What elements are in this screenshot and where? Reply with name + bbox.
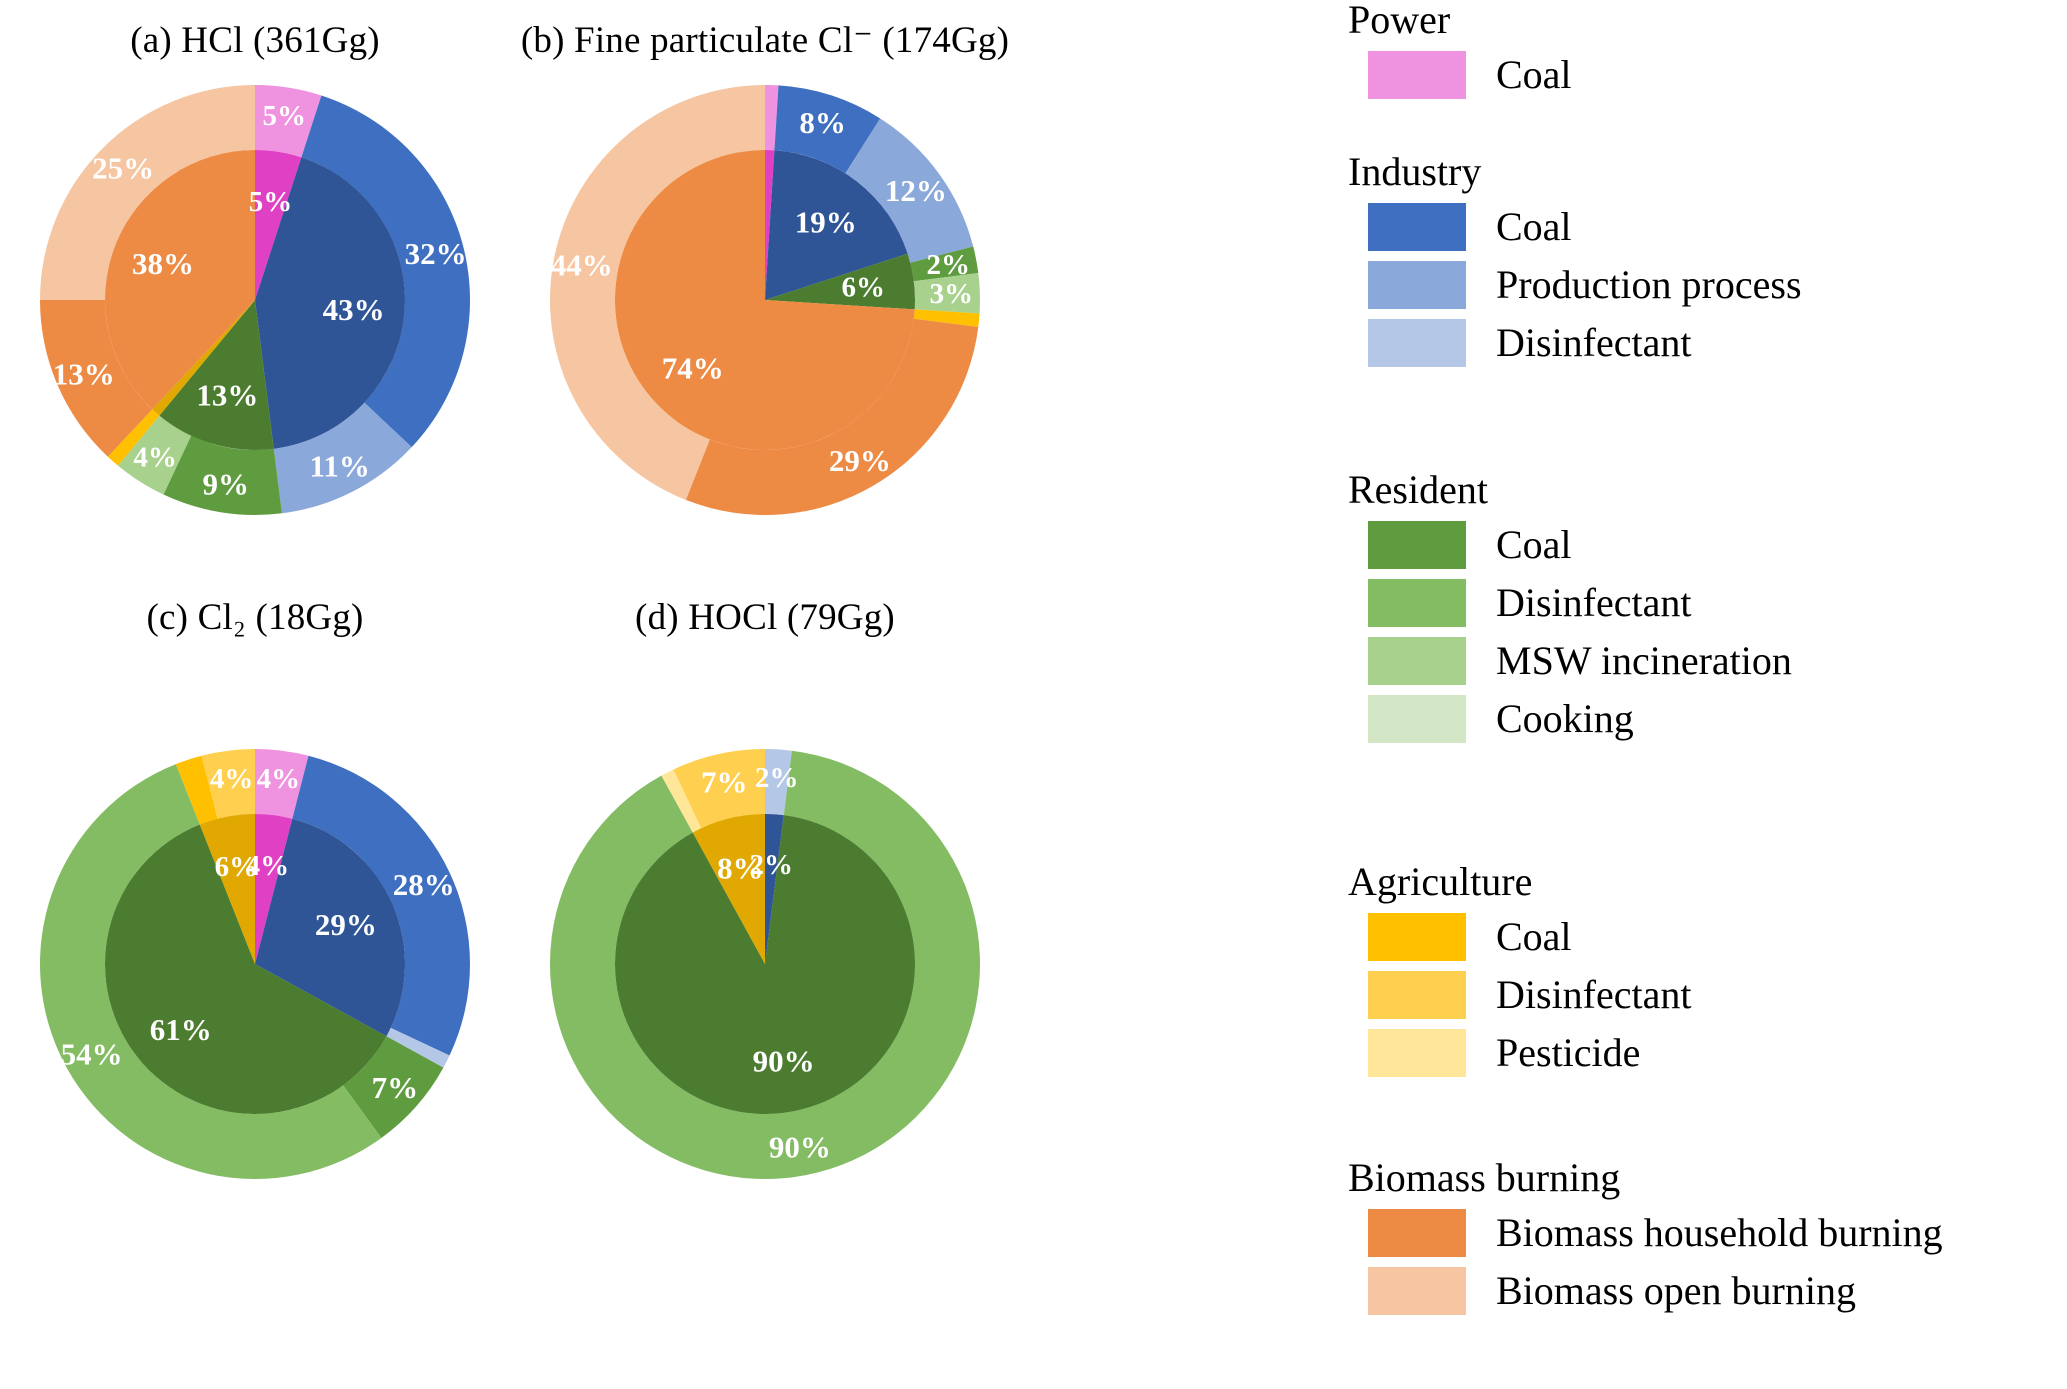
donut-chart-c: 4%28%7%54%4%4%29%61%6% <box>35 744 475 1184</box>
legend-heading: Biomass burning <box>1348 1158 2067 1198</box>
legend-item[interactable]: Coal <box>1348 46 2067 104</box>
legend-item-label: Biomass household burning <box>1496 1213 1943 1253</box>
pie-slice-value-label: 74% <box>662 350 724 385</box>
legend-item[interactable]: Pesticide <box>1348 1024 2067 1082</box>
chart-grid: (a) HCl (361Gg) 5%32%11%9%4%13%25%5%43%1… <box>0 0 1020 1389</box>
donut-a: 5%32%11%9%4%13%25%5%43%13%38% <box>35 80 475 520</box>
panel-cl2: (c) Cl₂ (18Gg) 4%28%7%54%4%4%29%61%6% <box>0 694 510 1388</box>
legend-item[interactable]: Disinfectant <box>1348 314 2067 372</box>
legend-item-label: Disinfectant <box>1496 583 1692 623</box>
pie-slice-value-label: 12% <box>885 173 947 208</box>
pie-slice-value-label: 25% <box>92 151 154 186</box>
pie-slice-value-label: 44% <box>551 248 613 283</box>
legend-swatch-icon <box>1368 51 1466 99</box>
legend-item-label: MSW incineration <box>1496 641 1792 681</box>
pie-slice-value-label: 9% <box>203 467 250 502</box>
legend-swatch-icon <box>1368 1267 1466 1315</box>
pie-slice-value-label: 2% <box>926 249 970 281</box>
legend-item-label: Coal <box>1496 917 1572 957</box>
pie-slice-value-label: 13% <box>53 357 115 392</box>
pie-slice-value-label: 3% <box>930 278 974 310</box>
pie-slice-value-label: 28% <box>393 867 455 902</box>
legend-swatch-icon <box>1368 1209 1466 1257</box>
legend-swatch-icon <box>1368 913 1466 961</box>
legend-item-label: Pesticide <box>1496 1033 1640 1073</box>
pie-slice-value-label: 4% <box>133 442 177 474</box>
panel-hocl: (d) HOCl (79Gg) 2%90%7%2%90%8% <box>510 694 1020 1388</box>
legend-item[interactable]: Disinfectant <box>1348 966 2067 1024</box>
legend-heading: Power <box>1348 0 2067 40</box>
legend-group-power: PowerCoal <box>1348 0 2067 104</box>
legend-item[interactable]: Production process <box>1348 256 2067 314</box>
legend-heading: Industry <box>1348 152 2067 192</box>
pie-slice-value-label: 7% <box>701 765 748 800</box>
pie-slice-value-label: 32% <box>405 236 467 271</box>
pie-slice-value-label: 90% <box>769 1130 831 1165</box>
legend-item[interactable]: Biomass household burning <box>1348 1204 2067 1262</box>
legend-item-label: Coal <box>1496 207 1572 247</box>
legend-item[interactable]: Disinfectant <box>1348 574 2067 632</box>
legend-item-label: Coal <box>1496 55 1572 95</box>
panel-title-b: (b) Fine particulate Cl⁻ (174Gg) <box>510 22 1020 61</box>
panel-title-a: (a) HCl (361Gg) <box>0 22 510 61</box>
legend-item-label: Cooking <box>1496 699 1634 739</box>
legend-swatch-icon <box>1368 971 1466 1019</box>
legend-swatch-icon <box>1368 203 1466 251</box>
legend-swatch-icon <box>1368 1029 1466 1077</box>
pie-slice-value-label: 54% <box>61 1036 123 1071</box>
legend-item[interactable]: Biomass open burning <box>1348 1262 2067 1320</box>
legend-item[interactable]: Coal <box>1348 908 2067 966</box>
panel-hcl: (a) HCl (361Gg) 5%32%11%9%4%13%25%5%43%1… <box>0 0 510 694</box>
legend-item[interactable]: Coal <box>1348 516 2067 574</box>
pie-slice-value-label: 29% <box>315 907 377 942</box>
pie-slice-value-label: 4% <box>257 763 301 795</box>
pie-slice-value-label: 61% <box>150 1012 212 1047</box>
donut-d: 2%90%7%2%90%8% <box>545 744 985 1184</box>
legend-swatch-icon <box>1368 695 1466 743</box>
panel-title-d: (d) HOCl (79Gg) <box>510 599 1020 638</box>
donut-c: 4%28%7%54%4%4%29%61%6% <box>35 744 475 1184</box>
legend-swatch-icon <box>1368 319 1466 367</box>
pie-slice-value-label: 6% <box>841 272 885 304</box>
pie-slice-value-label: 7% <box>372 1070 419 1105</box>
legend-group-agriculture: AgricultureCoalDisinfectantPesticide <box>1348 862 2067 1082</box>
pie-slice-value-label: 2% <box>755 762 799 794</box>
legend-heading: Agriculture <box>1348 862 2067 902</box>
pie-slice-value-label: 8% <box>717 851 764 886</box>
pie-slice-value-label: 38% <box>132 246 194 281</box>
pie-slice-value-label: 5% <box>262 100 306 132</box>
legend-item[interactable]: Coal <box>1348 198 2067 256</box>
legend-item-label: Disinfectant <box>1496 323 1692 363</box>
legend-swatch-icon <box>1368 261 1466 309</box>
legend-item-label: Biomass open burning <box>1496 1271 1856 1311</box>
pie-slice-value-label: 13% <box>196 378 258 413</box>
pie-slice-value-label: 4% <box>210 763 254 795</box>
figure-chlorine-emission-pies: (a) HCl (361Gg) 5%32%11%9%4%13%25%5%43%1… <box>0 0 2067 1389</box>
legend-heading: Resident <box>1348 470 2067 510</box>
legend: PowerCoalIndustryCoalProduction processD… <box>1348 0 2067 1389</box>
legend-item[interactable]: Cooking <box>1348 690 2067 748</box>
pie-slice-value-label: 29% <box>829 443 891 478</box>
legend-item-label: Coal <box>1496 525 1572 565</box>
legend-item-label: Production process <box>1496 265 1802 305</box>
donut-b: 8%12%2%3%29%44%19%6%74% <box>545 80 985 520</box>
pie-slice-value-label: 5% <box>249 186 293 218</box>
donut-chart-d: 2%90%7%2%90%8% <box>545 744 985 1184</box>
panel-fine-particulate-cl: (b) Fine particulate Cl⁻ (174Gg) 8%12%2%… <box>510 0 1020 694</box>
pie-slice-value-label: 11% <box>310 449 370 484</box>
pie-slice-value-label: 90% <box>753 1044 815 1079</box>
legend-swatch-icon <box>1368 637 1466 685</box>
panel-title-c: (c) Cl₂ (18Gg) <box>0 599 510 638</box>
pie-slice-value-label: 19% <box>795 204 857 239</box>
legend-item-label: Disinfectant <box>1496 975 1692 1015</box>
pie-slice-value-label: 6% <box>215 851 259 883</box>
legend-group-resident: ResidentCoalDisinfectantMSW incineration… <box>1348 470 2067 748</box>
pie-slice-value-label: 43% <box>323 292 385 327</box>
donut-chart-b: 8%12%2%3%29%44%19%6%74% <box>545 80 985 520</box>
pie-slice-value-label: 8% <box>799 105 846 140</box>
legend-swatch-icon <box>1368 579 1466 627</box>
legend-swatch-icon <box>1368 521 1466 569</box>
legend-group-industry: IndustryCoalProduction processDisinfecta… <box>1348 152 2067 372</box>
legend-group-biomass-burning: Biomass burningBiomass household burning… <box>1348 1158 2067 1320</box>
donut-chart-a: 5%32%11%9%4%13%25%5%43%13%38% <box>35 80 475 520</box>
legend-item[interactable]: MSW incineration <box>1348 632 2067 690</box>
